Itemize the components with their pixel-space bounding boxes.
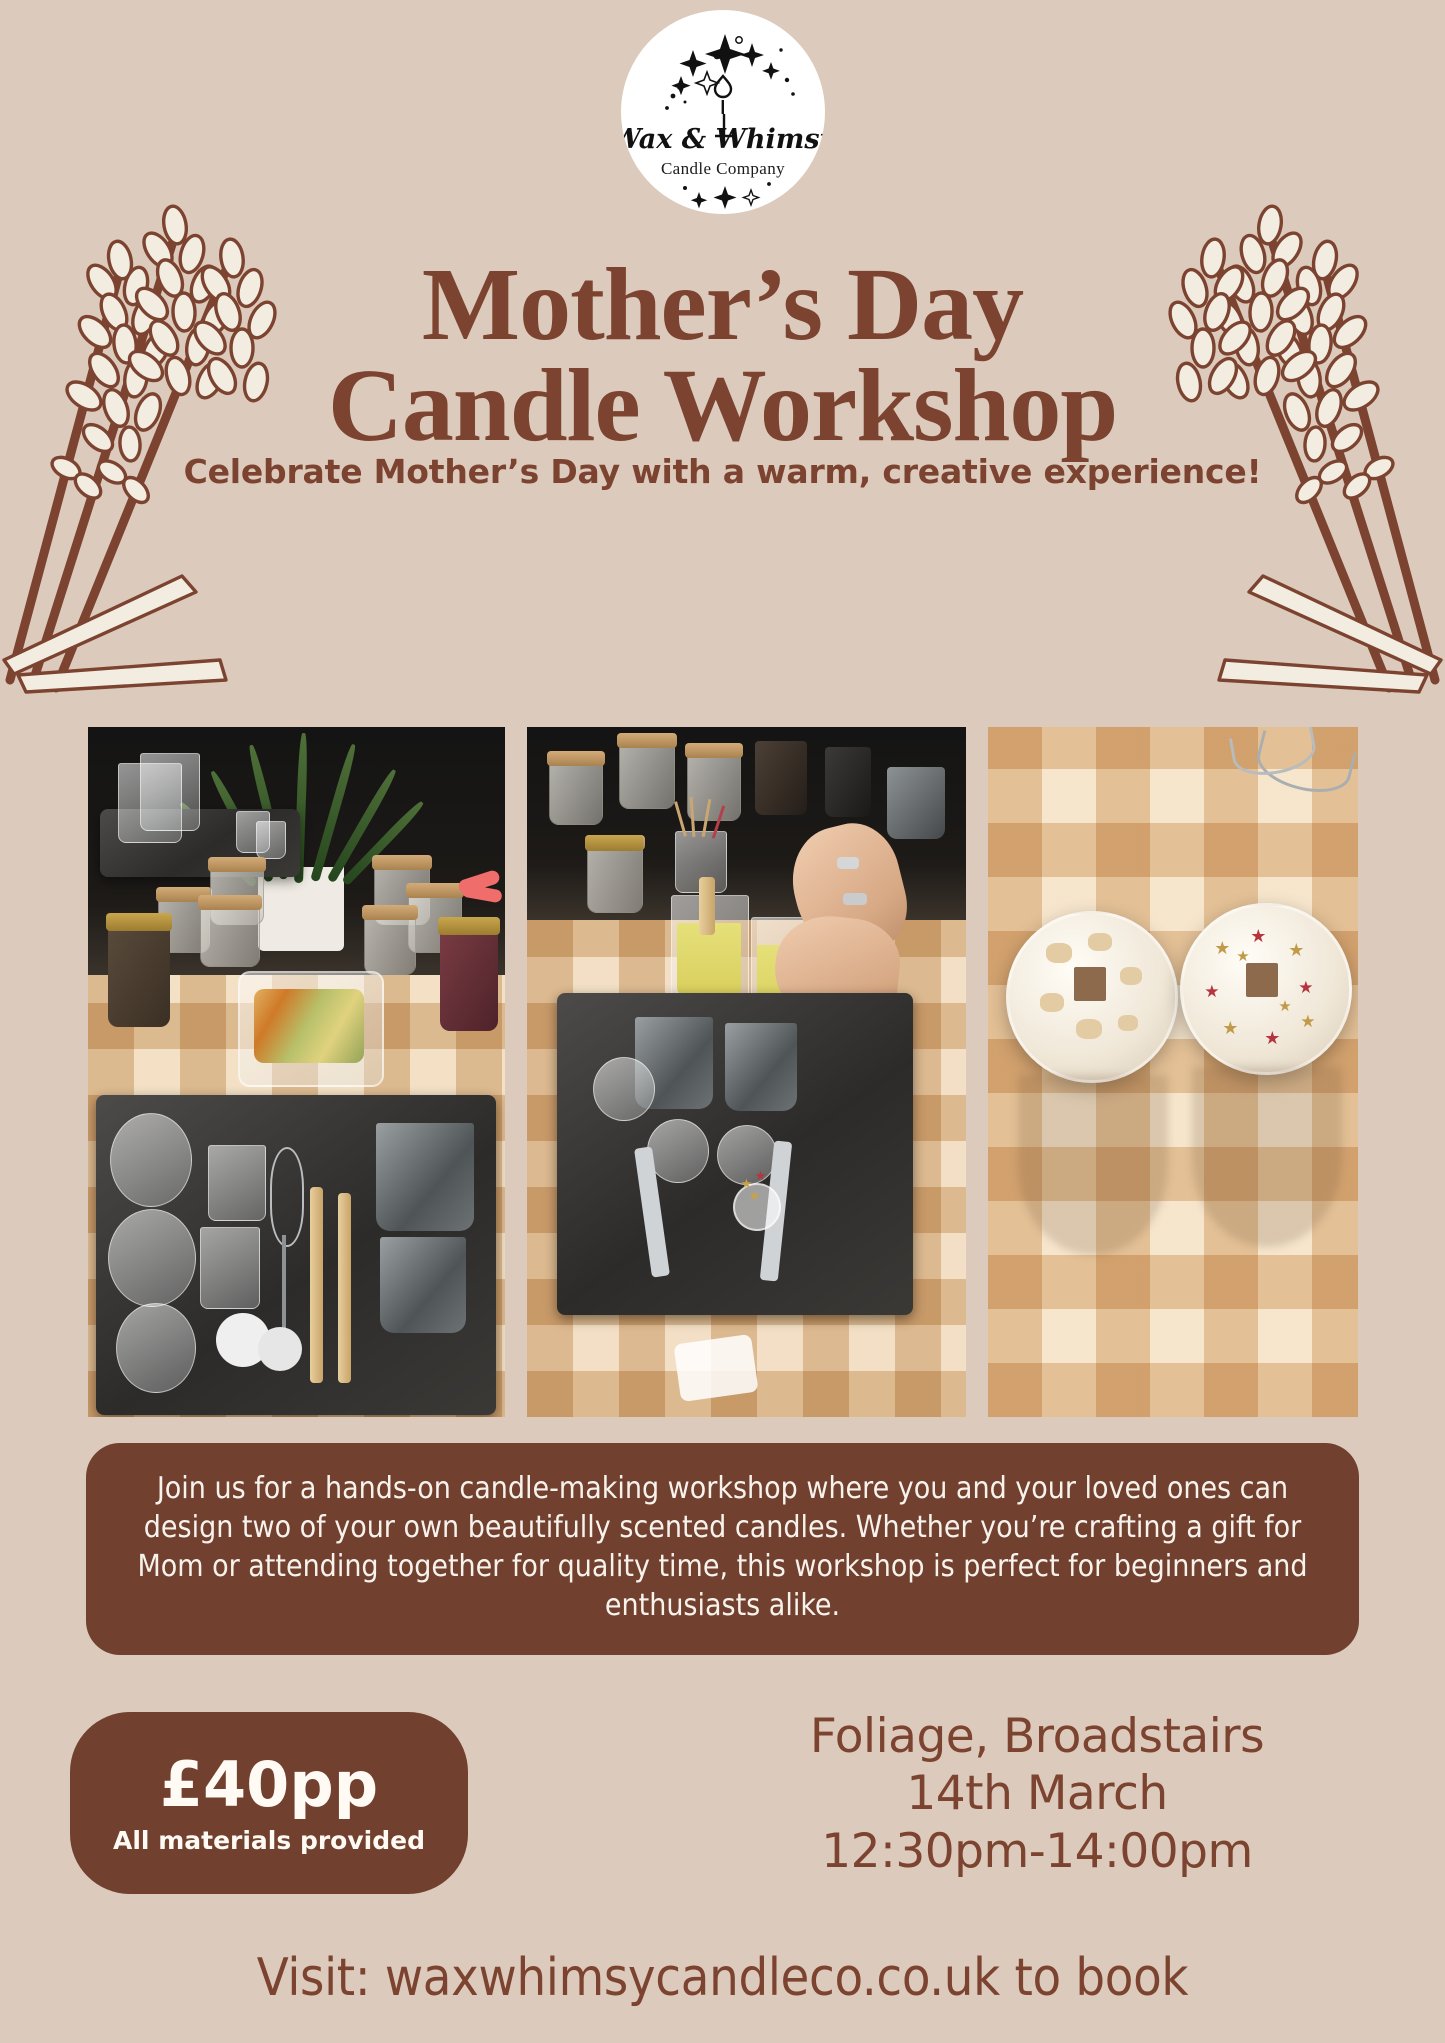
workshop-photo-supplies — [88, 727, 505, 1417]
price-note: All materials provided — [113, 1828, 425, 1853]
event-time: 12:30pm-14:00pm — [707, 1823, 1367, 1880]
page-title-line-1: Mother’s Day — [0, 255, 1445, 356]
event-details: Foliage, Broadstairs 14th March 12:30pm-… — [707, 1708, 1367, 1880]
price-amount: £40pp — [160, 1754, 378, 1816]
event-venue: Foliage, Broadstairs — [707, 1708, 1367, 1765]
page-title: Mother’s Day Candle Workshop — [0, 255, 1445, 457]
photo-gallery: ★ ★ ★ — [88, 727, 1358, 1417]
logo-brand-subtitle: Candle Company — [660, 159, 784, 178]
page-title-line-2: Candle Workshop — [0, 356, 1445, 457]
logo-brand-name: Wax & Whimsy — [621, 124, 825, 155]
tagline: Celebrate Mother’s Day with a warm, crea… — [0, 452, 1445, 491]
booking-link[interactable]: Visit: waxwhimsycandleco.co.uk to book — [0, 1948, 1445, 2008]
poster: Wax & Whimsy Candle Company Mother’s Day… — [0, 0, 1445, 2043]
event-date: 14th March — [707, 1765, 1367, 1822]
workshop-photo-pouring: ★ ★ ★ — [527, 727, 967, 1417]
price-badge: £40pp All materials provided — [70, 1712, 468, 1894]
brand-logo: Wax & Whimsy Candle Company — [621, 10, 825, 214]
workshop-description: Join us for a hands-on candle-making wor… — [86, 1443, 1359, 1655]
workshop-photo-finished-candles: ★ ★ ★ ★ ★ ★ ★ ★ ★ ★ — [988, 727, 1358, 1417]
